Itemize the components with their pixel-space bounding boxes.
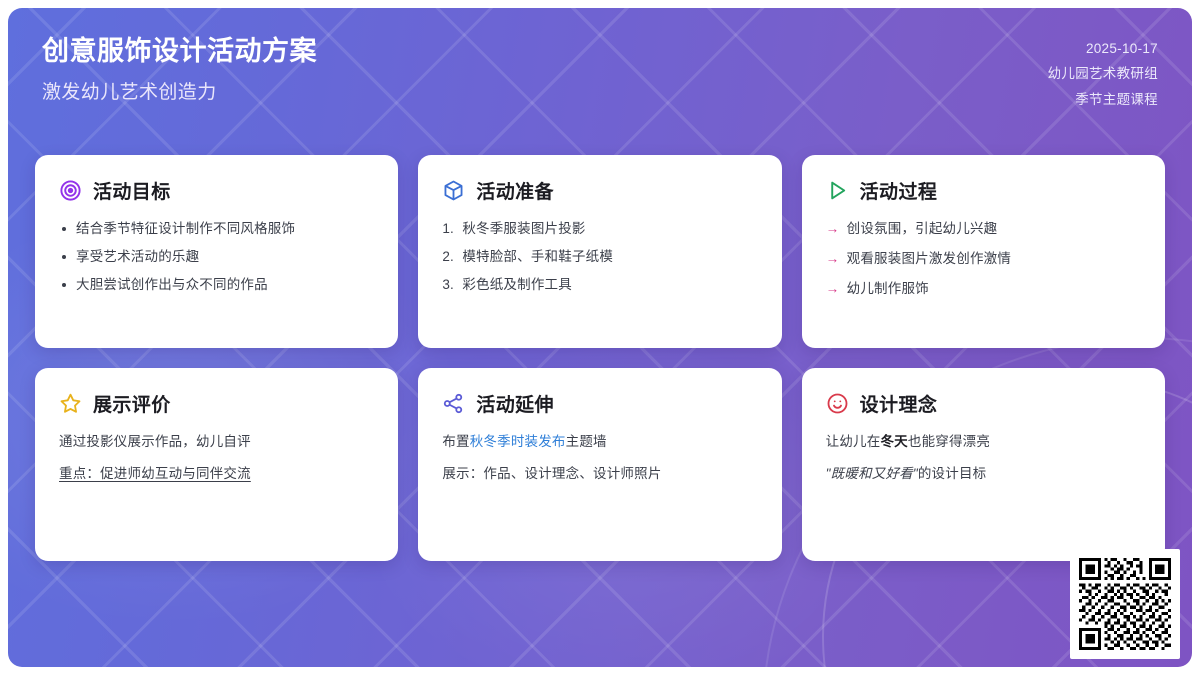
list-item: 观看服装图片激发创作激情 <box>826 249 1141 270</box>
concept-pre: 让幼儿在 <box>826 434 881 449</box>
card-title: 展示评价 <box>93 390 171 417</box>
slide-header: 创意服饰设计活动方案 激发幼儿艺术创造力 2025-10-17 幼儿园艺术教研组… <box>8 8 1192 136</box>
card-header: 设计理念 <box>826 390 1141 417</box>
list-item: 幼儿制作服饰 <box>826 279 1141 300</box>
card-body: 结合季节特征设计制作不同风格服饰 享受艺术活动的乐趣 大胆尝试创作出与众不同的作… <box>59 219 374 303</box>
slide-stage: 创意服饰设计活动方案 激发幼儿艺术创造力 2025-10-17 幼儿园艺术教研组… <box>0 0 1200 675</box>
list-item: 享受艺术活动的乐趣 <box>59 247 374 268</box>
extension-pre: 布置 <box>442 434 469 449</box>
header-date: 2025-10-17 <box>1086 39 1158 59</box>
card-title: 活动目标 <box>93 177 171 204</box>
goals-list: 结合季节特征设计制作不同风格服饰 享受艺术活动的乐趣 大胆尝试创作出与众不同的作… <box>59 219 374 303</box>
card-title: 活动过程 <box>860 177 938 204</box>
card-title: 活动准备 <box>476 177 554 204</box>
list-item: 彩色纸及制作工具 <box>442 275 757 296</box>
qr-code[interactable] <box>1070 549 1180 659</box>
card-body: 创设氛围，引起幼儿兴趣 观看服装图片激发创作激情 幼儿制作服饰 <box>826 219 1141 309</box>
evaluation-line-2: 重点：促进师幼互动与同伴交流 <box>59 464 374 485</box>
header-course: 季节主题课程 <box>1075 90 1158 110</box>
card-header: 活动目标 <box>59 177 374 204</box>
card-concept[interactable]: 设计理念 让幼儿在冬天也能穿得漂亮 "既暖和又好看"的设计目标 <box>802 368 1165 561</box>
concept-post: 也能穿得漂亮 <box>908 434 990 449</box>
concept-quote: "既暖和又好看" <box>826 466 918 481</box>
list-item: 大胆尝试创作出与众不同的作品 <box>59 275 374 296</box>
concept-quote-post: 的设计目标 <box>918 466 987 481</box>
card-header: 展示评价 <box>59 390 374 417</box>
smile-icon <box>826 392 849 415</box>
cube-icon <box>442 179 465 202</box>
evaluation-line-1: 通过投影仪展示作品，幼儿自评 <box>59 432 374 453</box>
extension-line-1: 布置秋冬季时装发布主题墙 <box>442 432 757 453</box>
page-title: 创意服饰设计活动方案 <box>42 36 317 67</box>
list-item: 秋冬季服装图片投影 <box>442 219 757 240</box>
card-body: 布置秋冬季时装发布主题墙 展示：作品、设计理念、设计师照片 <box>442 432 757 485</box>
card-header: 活动延伸 <box>442 390 757 417</box>
card-body: 让幼儿在冬天也能穿得漂亮 "既暖和又好看"的设计目标 <box>826 432 1141 485</box>
preparation-list: 秋冬季服装图片投影 模特脸部、手和鞋子纸模 彩色纸及制作工具 <box>442 219 757 303</box>
extension-line-2: 展示：作品、设计理念、设计师照片 <box>442 464 757 485</box>
card-extension[interactable]: 活动延伸 布置秋冬季时装发布主题墙 展示：作品、设计理念、设计师照片 <box>418 368 781 561</box>
qr-code-image <box>1079 558 1171 650</box>
card-grid: 活动目标 结合季节特征设计制作不同风格服饰 享受艺术活动的乐趣 大胆尝试创作出与… <box>35 155 1165 561</box>
card-body: 秋冬季服装图片投影 模特脸部、手和鞋子纸模 彩色纸及制作工具 <box>442 219 757 303</box>
target-icon <box>59 179 82 202</box>
extension-highlight: 秋冬季时装发布 <box>470 434 566 449</box>
play-icon <box>826 179 849 202</box>
concept-line-2: "既暖和又好看"的设计目标 <box>826 464 1141 485</box>
card-body: 通过投影仪展示作品，幼儿自评 重点：促进师幼互动与同伴交流 <box>59 432 374 485</box>
concept-line-1: 让幼儿在冬天也能穿得漂亮 <box>826 432 1141 453</box>
card-title: 活动延伸 <box>476 390 554 417</box>
list-item: 模特脸部、手和鞋子纸模 <box>442 247 757 268</box>
card-preparation[interactable]: 活动准备 秋冬季服装图片投影 模特脸部、手和鞋子纸模 彩色纸及制作工具 <box>418 155 781 348</box>
concept-bold: 冬天 <box>880 434 907 449</box>
slide-canvas: 创意服饰设计活动方案 激发幼儿艺术创造力 2025-10-17 幼儿园艺术教研组… <box>8 8 1192 667</box>
share-icon <box>442 392 465 415</box>
card-goals[interactable]: 活动目标 结合季节特征设计制作不同风格服饰 享受艺术活动的乐趣 大胆尝试创作出与… <box>35 155 398 348</box>
process-list: 创设氛围，引起幼儿兴趣 观看服装图片激发创作激情 幼儿制作服饰 <box>826 219 1141 309</box>
header-titles: 创意服饰设计活动方案 激发幼儿艺术创造力 <box>42 36 317 104</box>
card-title: 设计理念 <box>860 390 938 417</box>
page-subtitle: 激发幼儿艺术创造力 <box>42 77 317 104</box>
extension-post: 主题墙 <box>566 434 607 449</box>
card-header: 活动过程 <box>826 177 1141 204</box>
card-process[interactable]: 活动过程 创设氛围，引起幼儿兴趣 观看服装图片激发创作激情 幼儿制作服饰 <box>802 155 1165 348</box>
card-header: 活动准备 <box>442 177 757 204</box>
list-item: 创设氛围，引起幼儿兴趣 <box>826 219 1141 240</box>
star-icon <box>59 392 82 415</box>
header-organization: 幼儿园艺术教研组 <box>1048 64 1158 84</box>
list-item: 结合季节特征设计制作不同风格服饰 <box>59 219 374 240</box>
evaluation-emphasis: 重点：促进师幼互动与同伴交流 <box>59 466 251 481</box>
header-meta: 2025-10-17 幼儿园艺术教研组 季节主题课程 <box>1048 36 1158 110</box>
card-evaluation[interactable]: 展示评价 通过投影仪展示作品，幼儿自评 重点：促进师幼互动与同伴交流 <box>35 368 398 561</box>
